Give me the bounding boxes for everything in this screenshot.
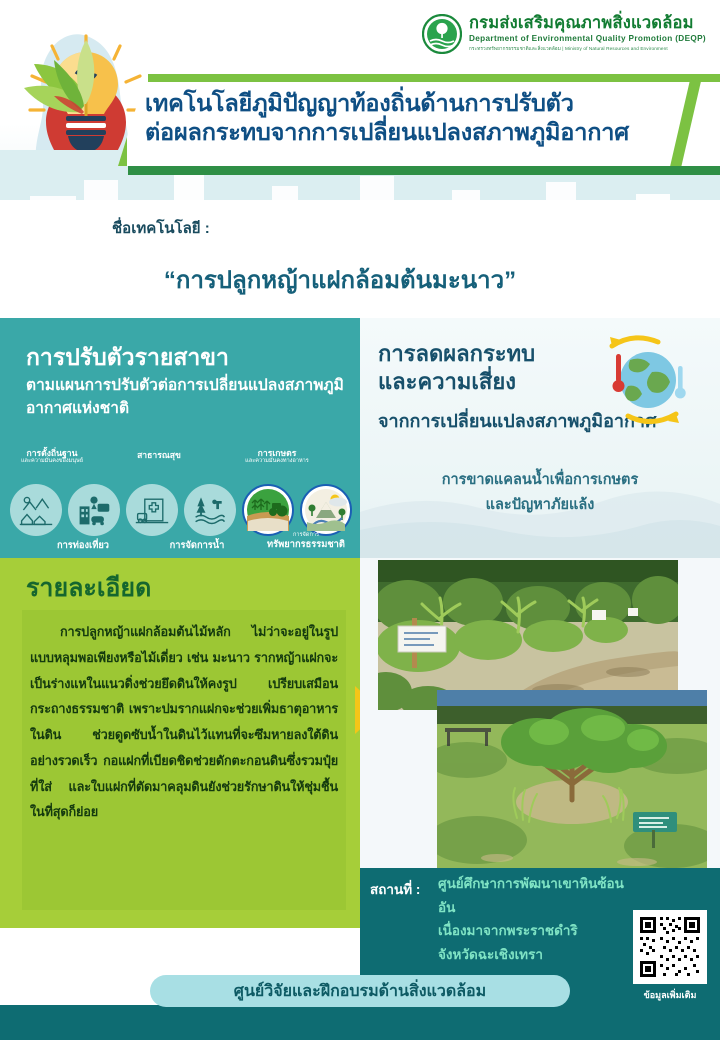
- sector-label-tourism: การท่องเที่ยว: [38, 540, 128, 551]
- sector-icon-natural-resources[interactable]: [300, 484, 352, 536]
- footer-bar: [0, 1005, 720, 1040]
- mitigation-body: การขาดแคลนน้ำเพื่อการเกษตร และปัญหาภัยแล…: [360, 468, 720, 517]
- sector-icon-public-health[interactable]: [126, 484, 178, 536]
- technology-label: ชื่อเทคโนโลยี :: [112, 216, 210, 240]
- qr-caption: ข้อมูลเพิ่มเติม: [633, 988, 707, 1002]
- sector-label-natural-resources: การจัดการ ทรัพยากรธรรมชาติ: [252, 532, 360, 550]
- location-label: สถานที่ :: [370, 878, 420, 900]
- mitigation-panel: การลดผลกระทบ และความเสี่ยง จากการเปลี่ยน…: [360, 318, 720, 558]
- technology-name-block: ชื่อเทคโนโลยี : “การปลูกหญ้าแฝกล้อมต้นมะ…: [0, 208, 720, 318]
- poster-title-line2: ต่อผลกระทบจากการเปลี่ยนแปลงสภาพภูมิอากาศ: [145, 118, 629, 147]
- title-bottom-accent: [128, 166, 720, 175]
- sector-icon-water-management[interactable]: [184, 484, 236, 536]
- logo-ministry-line: กระทรวงทรัพยากรธรรมชาติและสิ่งแวดล้อม | …: [469, 46, 706, 53]
- mitigation-heading: การลดผลกระทบ และความเสี่ยง: [378, 340, 535, 396]
- sector-icon-tourism[interactable]: [68, 484, 120, 536]
- public-health-hospital-icon: [134, 492, 170, 528]
- lime-tree-vetiver-photo: [437, 690, 707, 870]
- adaptation-subheading: ตามแผนการปรับตัวต่อการเปลี่ยนแปลงสภาพภูม…: [26, 374, 346, 421]
- agriculture-tractor-icon: [246, 488, 290, 532]
- vetiver-field-rows-photo: [378, 560, 678, 710]
- sector-icon-agriculture[interactable]: [242, 484, 294, 536]
- sector-label-agriculture: การเกษตร และความมั่นคงทางอาหาร: [222, 448, 332, 465]
- location-value: ศูนย์ศึกษาการพัฒนาเขาหินซ้อนอัน เนื่องมา…: [438, 872, 628, 967]
- sector-label-health: สาธารณสุข: [118, 450, 200, 460]
- qr-code-icon[interactable]: [633, 910, 707, 984]
- details-text-box: การปลูกหญ้าแฝกล้อมต้นไม้หลัก ไม่ว่าจะอยู…: [22, 610, 346, 910]
- thermometer-blue: [675, 366, 686, 398]
- technology-name: “การปลูกหญ้าแฝกล้อมต้นมะนาว”: [0, 260, 680, 299]
- water-management-tap-icon: [192, 492, 228, 528]
- globe-thermometer-icon: [590, 332, 698, 428]
- sector-icon-row: [6, 484, 360, 536]
- adaptation-sectors-panel: การปรับตัวรายสาขา ตามแผนการปรับตัวต่อการ…: [0, 318, 360, 558]
- poster-title-band: เทคโนโลยีภูมิปัญญาท้องถิ่นด้านการปรับตัว…: [118, 82, 720, 166]
- footer-organization-pill: ศูนย์วิจัยและฝึกอบรมด้านสิ่งแวดล้อม: [150, 975, 570, 1007]
- title-top-accent: [148, 74, 720, 83]
- sector-label-settlement: การตั้งถิ่นฐาน และความมั่นคงของมนุษย์: [4, 448, 100, 465]
- details-title: รายละเอียด: [26, 568, 151, 608]
- logo-english-name: Department of Environmental Quality Prom…: [469, 34, 706, 43]
- natural-resources-mountain-icon: [304, 488, 348, 532]
- footer-text: ศูนย์วิจัยและฝึกอบรมด้านสิ่งแวดล้อม: [234, 979, 486, 1004]
- details-body-text: การปลูกหญ้าแฝกล้อมต้นไม้หลัก ไม่ว่าจะอยู…: [30, 620, 338, 826]
- adaptation-heading: การปรับตัวรายสาขา: [26, 340, 229, 376]
- details-panel: รายละเอียด การปลูกหญ้าแฝกล้อมต้นไม้หลัก …: [8, 558, 360, 928]
- poster-header: กรมส่งเสริมคุณภาพสิ่งแวดล้อม Department …: [0, 0, 720, 200]
- logo-thai-name: กรมส่งเสริมคุณภาพสิ่งแวดล้อม: [469, 15, 706, 32]
- sector-icon-settlement-houses[interactable]: [10, 484, 62, 536]
- sector-label-water: การจัดการน้ำ: [152, 540, 242, 551]
- deqp-seal-icon: [422, 14, 462, 54]
- deqp-logo: กรมส่งเสริมคุณภาพสิ่งแวดล้อม Department …: [422, 14, 706, 54]
- settlement-houses-icon: [18, 492, 54, 528]
- tourism-bus-building-icon: [76, 492, 112, 528]
- poster-title-line1: เทคโนโลยีภูมิปัญญาท้องถิ่นด้านการปรับตัว: [145, 89, 629, 118]
- sector-labels-top: การตั้งถิ่นฐาน และความมั่นคงของมนุษย์ สา…: [0, 448, 360, 482]
